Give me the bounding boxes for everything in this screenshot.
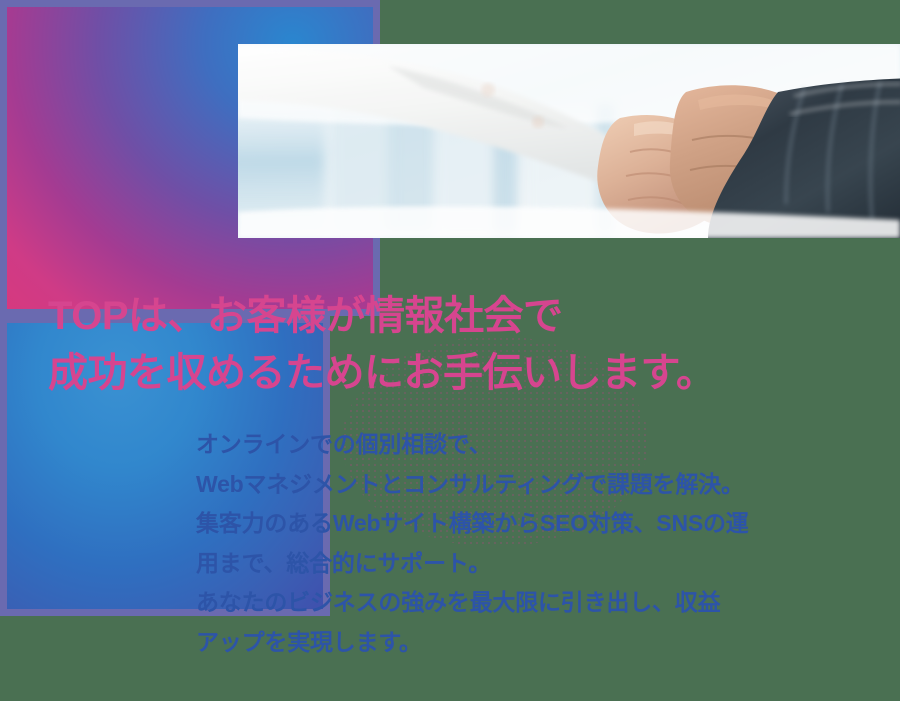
- hero-photo: [238, 44, 900, 238]
- hero-section: TOPは、お客様が情報社会で 成功を収めるためにお手伝いします。 オンラインでの…: [0, 0, 900, 701]
- page-title: TOPは、お客様が情報社会で 成功を収めるためにお手伝いします。: [48, 288, 868, 402]
- handshake-illustration: [238, 44, 900, 238]
- hero-description: オンラインでの個別相談で、 Webマネジメントとコンサルティングで課題を解決。 …: [196, 425, 856, 662]
